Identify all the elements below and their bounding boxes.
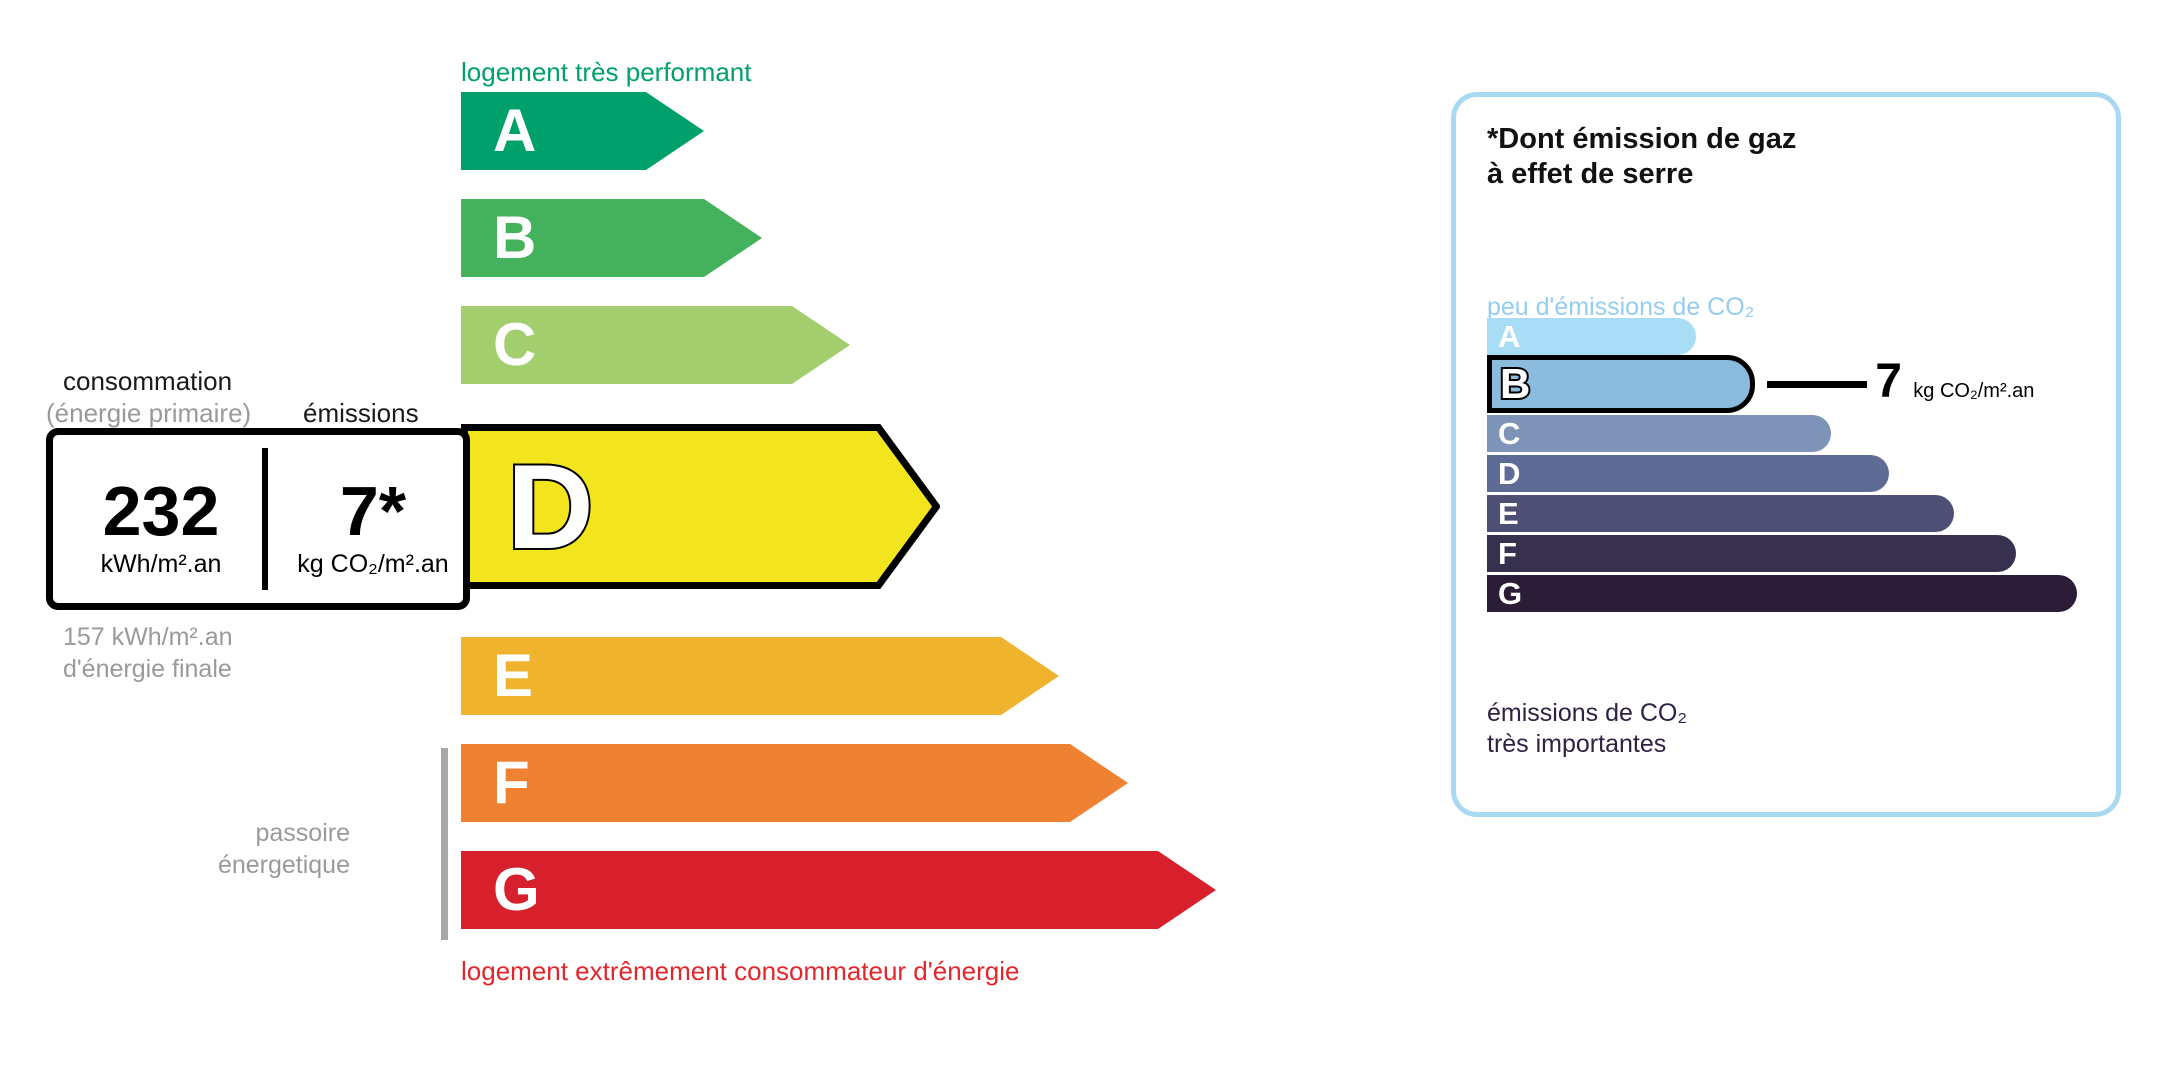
energy-class-arrow-a: A [461,92,704,170]
value-box-divider [262,448,268,590]
co2-class-letter-c: C [1498,418,1520,449]
emission-unit: kg CO₂/m².an [297,552,448,577]
emission-value-cell: 7* kg CO₂/m².an [275,435,471,617]
co2-bar-shape: F [1487,535,2016,572]
arrow-shape: E [461,637,1059,715]
co2-callout-value: 7 [1875,358,1902,406]
arrow-shape: B [461,199,762,277]
energy-class-arrow-b: B [461,199,762,277]
co2-panel-title: *Dont émission de gaz à effet de serre [1487,122,1796,192]
co2-class-bar-g: G [1487,575,2077,612]
co2-bar-shape: C [1487,415,1831,452]
scale-top-caption: logement très performant [461,57,751,88]
co2-class-letter-e: E [1498,498,1519,529]
energy-class-letter-d: D [507,447,594,567]
co2-class-bar-e: E [1487,495,1954,532]
co2-bar-shape: G [1487,575,2077,612]
arrow-shape: D [461,424,940,589]
dpe-energy-label: logement très performant ABCDEFG logemen… [0,0,2170,1079]
co2-class-letter-f: F [1498,538,1517,569]
energy-class-letter-c: C [493,315,536,375]
energy-class-arrow-f: F [461,744,1128,822]
energy-class-letter-f: F [493,753,530,813]
consumption-unit: kWh/m².an [101,552,222,577]
co2-bar-shape: D [1487,455,1889,492]
energy-class-letter-a: A [493,101,536,161]
emission-value: 7* [340,476,406,546]
energy-class-arrow-c: C [461,306,850,384]
arrow-shape: C [461,306,850,384]
energy-class-arrow-e: E [461,637,1059,715]
co2-bar-shape: E [1487,495,1954,532]
energy-performance-panel: logement très performant ABCDEFG logemen… [0,0,1400,1079]
passoire-indicator-bar [441,748,448,940]
co2-class-letter-g: G [1498,578,1522,609]
energy-class-arrow-g: G [461,851,1216,929]
co2-callout-connector-line [1767,381,1867,388]
value-summary-box: 232 kWh/m².an 7* kg CO₂/m².an [46,428,470,610]
co2-emission-panel: *Dont émission de gaz à effet de serre p… [1451,92,2121,817]
consumption-value: 232 [103,476,220,546]
passoire-energetique-label: passoire énergetique [120,818,350,881]
co2-bar-shape: A [1487,318,1696,355]
arrow-shape: F [461,744,1128,822]
arrow-shape: A [461,92,704,170]
scale-bottom-caption: logement extrêmement consommateur d'éner… [461,956,1019,987]
energy-class-letter-g: G [493,860,540,920]
final-energy-note: 157 kWh/m².an d'énergie finale [63,622,233,685]
consommation-label: consommation [63,366,232,397]
co2-bottom-caption: émissions de CO₂ très importantes [1487,698,1687,760]
energy-class-letter-b: B [493,208,536,268]
energy-class-arrow-d: D [461,424,940,589]
energy-class-letter-e: E [493,646,533,706]
emissions-label: émissions [303,398,419,429]
co2-callout-unit: kg CO₂/m².an [1913,381,2034,401]
co2-class-bar-c: C [1487,415,1831,452]
consumption-value-cell: 232 kWh/m².an [53,435,269,617]
co2-class-letter-d: D [1498,458,1520,489]
co2-class-bar-f: F [1487,535,2016,572]
co2-class-bar-d: D [1487,455,1889,492]
co2-bar-shape: B [1487,355,1755,413]
co2-class-bar-b: B [1487,355,1755,413]
energie-primaire-label: (énergie primaire) [46,398,251,429]
co2-class-bar-a: A [1487,318,1696,355]
co2-class-letter-b: B [1500,363,1530,405]
co2-class-letter-a: A [1498,321,1520,352]
arrow-shape: G [461,851,1216,929]
